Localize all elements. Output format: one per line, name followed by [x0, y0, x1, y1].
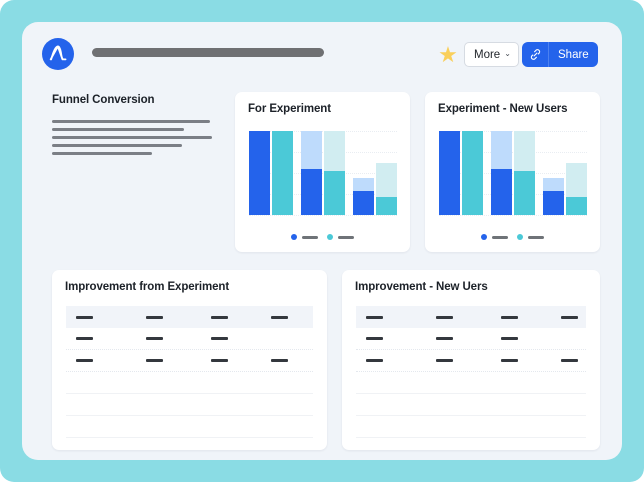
- chart-bar[interactable]: [353, 178, 374, 215]
- legend-label-placeholder: [302, 236, 318, 239]
- placeholder-dash: [146, 359, 163, 362]
- table-row: [356, 416, 586, 438]
- placeholder-dash: [146, 337, 163, 340]
- chart-bar-segment-remainder: [324, 131, 345, 171]
- table-row[interactable]: [66, 350, 313, 372]
- chart-bar-segment-value: [376, 197, 397, 215]
- table-column-header-placeholder: [561, 316, 578, 319]
- chart-bar[interactable]: [462, 131, 483, 215]
- chart-bar[interactable]: [439, 131, 460, 215]
- chart-bar[interactable]: [543, 178, 564, 215]
- placeholder-dash: [271, 359, 288, 362]
- funnel-conversion-placeholder-lines: [52, 120, 227, 155]
- table-header-row[interactable]: [356, 306, 586, 328]
- funnel-conversion-title: Funnel Conversion: [52, 94, 227, 106]
- link-icon[interactable]: [522, 42, 549, 67]
- data-table: [66, 306, 313, 438]
- table-cell-placeholder: [76, 359, 93, 362]
- table-column-header-placeholder: [271, 316, 288, 319]
- chart-bar-segment-value: [462, 131, 483, 215]
- chart-bar-segment-value: [272, 131, 293, 215]
- table-cell-placeholder: [366, 359, 383, 362]
- chart-bar-segment-value: [566, 197, 587, 215]
- amplitude-logo-icon[interactable]: [42, 38, 74, 70]
- legend-color-dot: [481, 234, 487, 240]
- bar-group-row: [249, 131, 397, 215]
- table-cell-placeholder: [436, 359, 453, 362]
- table-cell-placeholder: [211, 337, 228, 340]
- share-button[interactable]: Share: [549, 42, 598, 67]
- placeholder-dash: [561, 316, 578, 319]
- placeholder-dash: [436, 359, 453, 362]
- chart-gridline: [439, 215, 587, 216]
- table-header-row[interactable]: [66, 306, 313, 328]
- placeholder-dash: [76, 359, 93, 362]
- placeholder-dash: [76, 316, 93, 319]
- legend-item[interactable]: [517, 234, 544, 240]
- table-row: [66, 372, 313, 394]
- placeholder-dash: [501, 359, 518, 362]
- placeholder-dash: [366, 359, 383, 362]
- table-cell-placeholder: [271, 359, 288, 362]
- legend-item[interactable]: [291, 234, 318, 240]
- placeholder-dash: [366, 337, 383, 340]
- table-cell-placeholder: [436, 337, 453, 340]
- table-row[interactable]: [66, 328, 313, 350]
- table-row: [356, 372, 586, 394]
- table-card-title: Improvement from Experiment: [65, 281, 229, 293]
- placeholder-dash: [211, 337, 228, 340]
- more-button-label: More: [474, 49, 500, 61]
- placeholder-dash: [501, 316, 518, 319]
- legend-label-placeholder: [338, 236, 354, 239]
- table-column-header-placeholder: [76, 316, 93, 319]
- share-button-group: Share: [522, 42, 598, 67]
- table-cell-placeholder: [561, 359, 578, 362]
- chart-bar[interactable]: [301, 131, 322, 215]
- legend-color-dot: [517, 234, 523, 240]
- table-row: [66, 416, 313, 438]
- legend-color-dot: [327, 234, 333, 240]
- table-cell-placeholder: [366, 337, 383, 340]
- chart-bar-segment-value: [249, 131, 270, 215]
- chart-bar[interactable]: [514, 131, 535, 215]
- table-cell-placeholder: [211, 359, 228, 362]
- table-cell-placeholder: [146, 337, 163, 340]
- chart-bar-segment-value: [353, 191, 374, 215]
- chart-card-for-experiment[interactable]: For Experiment: [235, 92, 410, 252]
- table-column-header-placeholder: [211, 316, 228, 319]
- table-card-title: Improvement - New Uers: [355, 281, 488, 293]
- chart-card-experiment-new-users[interactable]: Experiment - New Users: [425, 92, 600, 252]
- chart-bar[interactable]: [376, 163, 397, 215]
- chart-bar-segment-remainder: [301, 131, 322, 169]
- chart-bar[interactable]: [566, 163, 587, 215]
- bar-chart-plot: [439, 131, 587, 215]
- table-row[interactable]: [356, 328, 586, 350]
- placeholder-dash: [436, 337, 453, 340]
- table-card-improvement-from-experiment[interactable]: Improvement from Experiment: [52, 270, 327, 450]
- placeholder-dash: [211, 316, 228, 319]
- chart-bar-segment-value: [439, 131, 460, 215]
- placeholder-dash: [501, 337, 518, 340]
- bar-chart-plot: [249, 131, 397, 215]
- table-column-header-placeholder: [436, 316, 453, 319]
- screenshot-canvas: ★ More ⌄ Share Funnel Con: [0, 0, 644, 482]
- chevron-down-icon: ⌄: [504, 50, 511, 58]
- table-column-header-placeholder: [501, 316, 518, 319]
- placeholder-dash: [146, 316, 163, 319]
- table-column-header-placeholder: [366, 316, 383, 319]
- funnel-conversion-block: Funnel Conversion: [52, 94, 227, 155]
- dashboard-title-placeholder[interactable]: [92, 48, 324, 57]
- funnel-placeholder-line: [52, 136, 212, 139]
- chart-bar[interactable]: [249, 131, 270, 215]
- table-card-improvement-new-users[interactable]: Improvement - New Uers: [342, 270, 600, 450]
- chart-bar-segment-remainder: [566, 163, 587, 197]
- table-row[interactable]: [356, 350, 586, 372]
- table-cell-placeholder: [501, 359, 518, 362]
- legend-item[interactable]: [327, 234, 354, 240]
- app-panel: ★ More ⌄ Share Funnel Con: [22, 22, 622, 460]
- chart-bar-segment-remainder: [353, 178, 374, 191]
- legend-color-dot: [291, 234, 297, 240]
- placeholder-dash: [76, 337, 93, 340]
- table-cell-placeholder: [146, 359, 163, 362]
- placeholder-dash: [271, 316, 288, 319]
- funnel-placeholder-line: [52, 120, 210, 123]
- chart-card-title: For Experiment: [248, 103, 331, 115]
- chart-bar-segment-value: [514, 171, 535, 215]
- placeholder-dash: [366, 316, 383, 319]
- star-icon[interactable]: ★: [437, 44, 459, 66]
- chart-card-title: Experiment - New Users: [438, 103, 567, 115]
- placeholder-dash: [211, 359, 228, 362]
- share-button-label: Share: [558, 49, 589, 61]
- chart-bar-segment-remainder: [491, 131, 512, 169]
- data-table: [356, 306, 586, 438]
- chart-bar-segment-value: [543, 191, 564, 215]
- chart-bar-segment-remainder: [514, 131, 535, 171]
- placeholder-dash: [561, 359, 578, 362]
- more-button[interactable]: More ⌄: [464, 42, 519, 67]
- placeholder-dash: [436, 316, 453, 319]
- funnel-placeholder-line: [52, 144, 182, 147]
- table-cell-placeholder: [76, 337, 93, 340]
- funnel-placeholder-line: [52, 128, 184, 131]
- legend-item[interactable]: [481, 234, 508, 240]
- chart-bar-segment-value: [301, 169, 322, 215]
- table-column-header-placeholder: [146, 316, 163, 319]
- chart-bar-segment-value: [324, 171, 345, 215]
- chart-legend: [235, 234, 410, 240]
- table-row: [66, 394, 313, 416]
- chart-bar-segment-value: [491, 169, 512, 215]
- chart-legend: [425, 234, 600, 240]
- chart-bar[interactable]: [491, 131, 512, 215]
- chart-bar[interactable]: [324, 131, 345, 215]
- chart-bar[interactable]: [272, 131, 293, 215]
- legend-label-placeholder: [492, 236, 508, 239]
- table-cell-placeholder: [501, 337, 518, 340]
- chart-gridline: [249, 215, 397, 216]
- chart-bar-segment-remainder: [543, 178, 564, 191]
- funnel-placeholder-line: [52, 152, 152, 155]
- app-topbar: ★ More ⌄ Share: [22, 22, 622, 84]
- bar-group-row: [439, 131, 587, 215]
- legend-label-placeholder: [528, 236, 544, 239]
- chart-bar-segment-remainder: [376, 163, 397, 197]
- table-row: [356, 394, 586, 416]
